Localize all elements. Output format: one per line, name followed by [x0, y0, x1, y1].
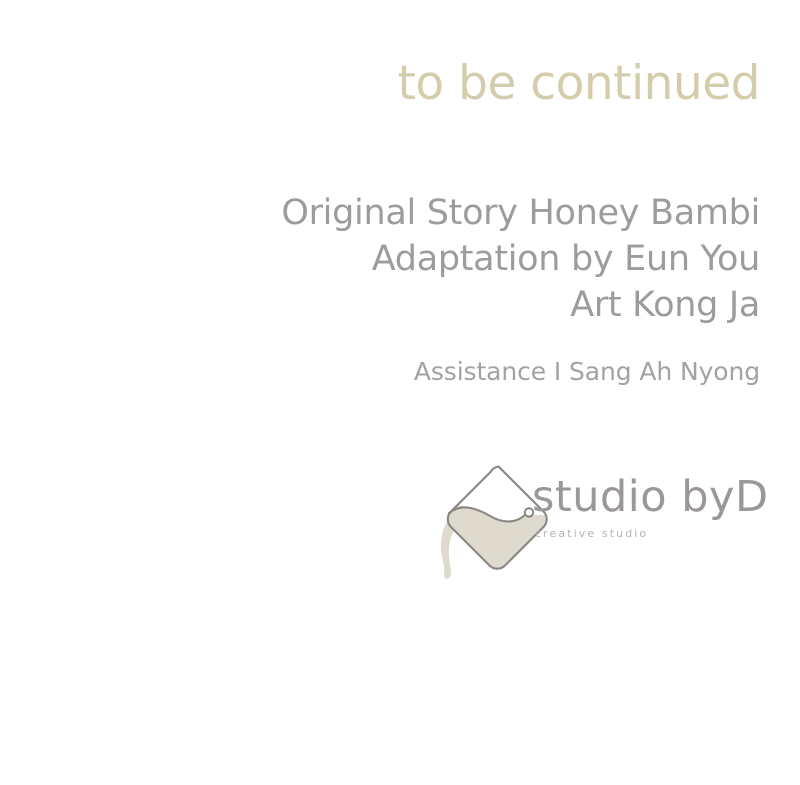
studio-wordmark: studio byD	[532, 476, 769, 519]
to-be-continued-banner: to be continued	[397, 58, 760, 110]
credit-line-art: Art Kong Ja	[281, 282, 760, 328]
credit-line-adaptation: Adaptation by Eun You	[281, 236, 760, 282]
credits-page: to be continued Original Story Honey Bam…	[0, 0, 800, 785]
studio-tagline: creative studio	[535, 528, 648, 539]
studio-logo-text: studio byD creative studio	[532, 476, 762, 566]
credit-line-assistance: Assistance I Sang Ah Nyong	[414, 357, 760, 386]
credit-line-original-story: Original Story Honey Bambi	[281, 190, 760, 236]
credits-block: Original Story Honey Bambi Adaptation by…	[281, 190, 760, 329]
studio-logo: studio byD creative studio	[432, 458, 762, 583]
